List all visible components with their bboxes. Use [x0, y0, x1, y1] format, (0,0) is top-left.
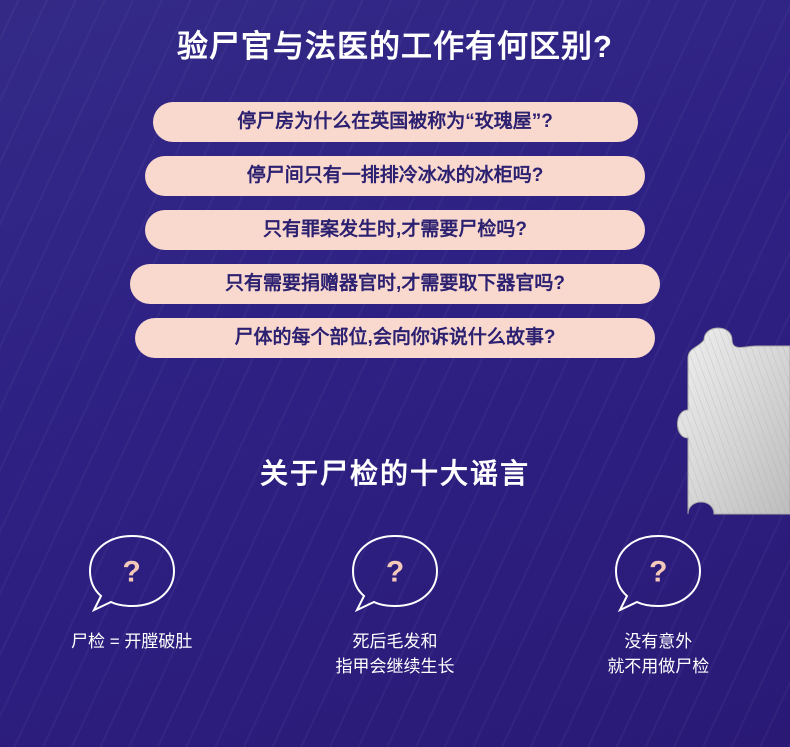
rumor-item-3[interactable]: ? 没有意外 就不用做尸检 [538, 530, 778, 679]
speech-bubble-icon: ? [347, 530, 443, 616]
section-title: 关于尸检的十大谣言 [0, 452, 790, 492]
question-mark: ? [649, 557, 667, 587]
rumor-label: 尸检 = 开膛破肚 [71, 630, 192, 655]
rumor-label: 死后毛发和 指甲会继续生长 [335, 630, 454, 679]
question-pill-1[interactable]: 停尸房为什么在英国被称为“玫瑰屋”? [153, 102, 638, 142]
poster-page: 验尸官与法医的工作有何区别? 停尸房为什么在英国被称为“玫瑰屋”? 停尸间只有一… [0, 0, 790, 747]
question-pill-5[interactable]: 尸体的每个部位,会向你诉说什么故事? [135, 318, 655, 358]
question-pill-2[interactable]: 停尸间只有一排排冷冰冰的冰柜吗? [145, 156, 645, 196]
speech-bubble-icon: ? [610, 530, 706, 616]
rumor-list: ? 尸检 = 开膛破肚 ? 死后毛发和 指甲会继续生长 ? 没有意外 就不用做尸… [0, 530, 790, 679]
speech-bubble-icon: ? [84, 530, 180, 616]
question-pill-3[interactable]: 只有罪案发生时,才需要尸检吗? [145, 210, 645, 250]
rumor-item-1[interactable]: ? 尸检 = 开膛破肚 [12, 530, 252, 655]
question-mark: ? [386, 557, 404, 587]
rumor-label: 没有意外 就不用做尸检 [607, 630, 709, 679]
question-mark: ? [122, 557, 140, 587]
question-pill-4[interactable]: 只有需要捐赠器官时,才需要取下器官吗? [130, 264, 660, 304]
rumor-item-2[interactable]: ? 死后毛发和 指甲会继续生长 [275, 530, 515, 679]
page-title: 验尸官与法医的工作有何区别? [0, 28, 790, 67]
